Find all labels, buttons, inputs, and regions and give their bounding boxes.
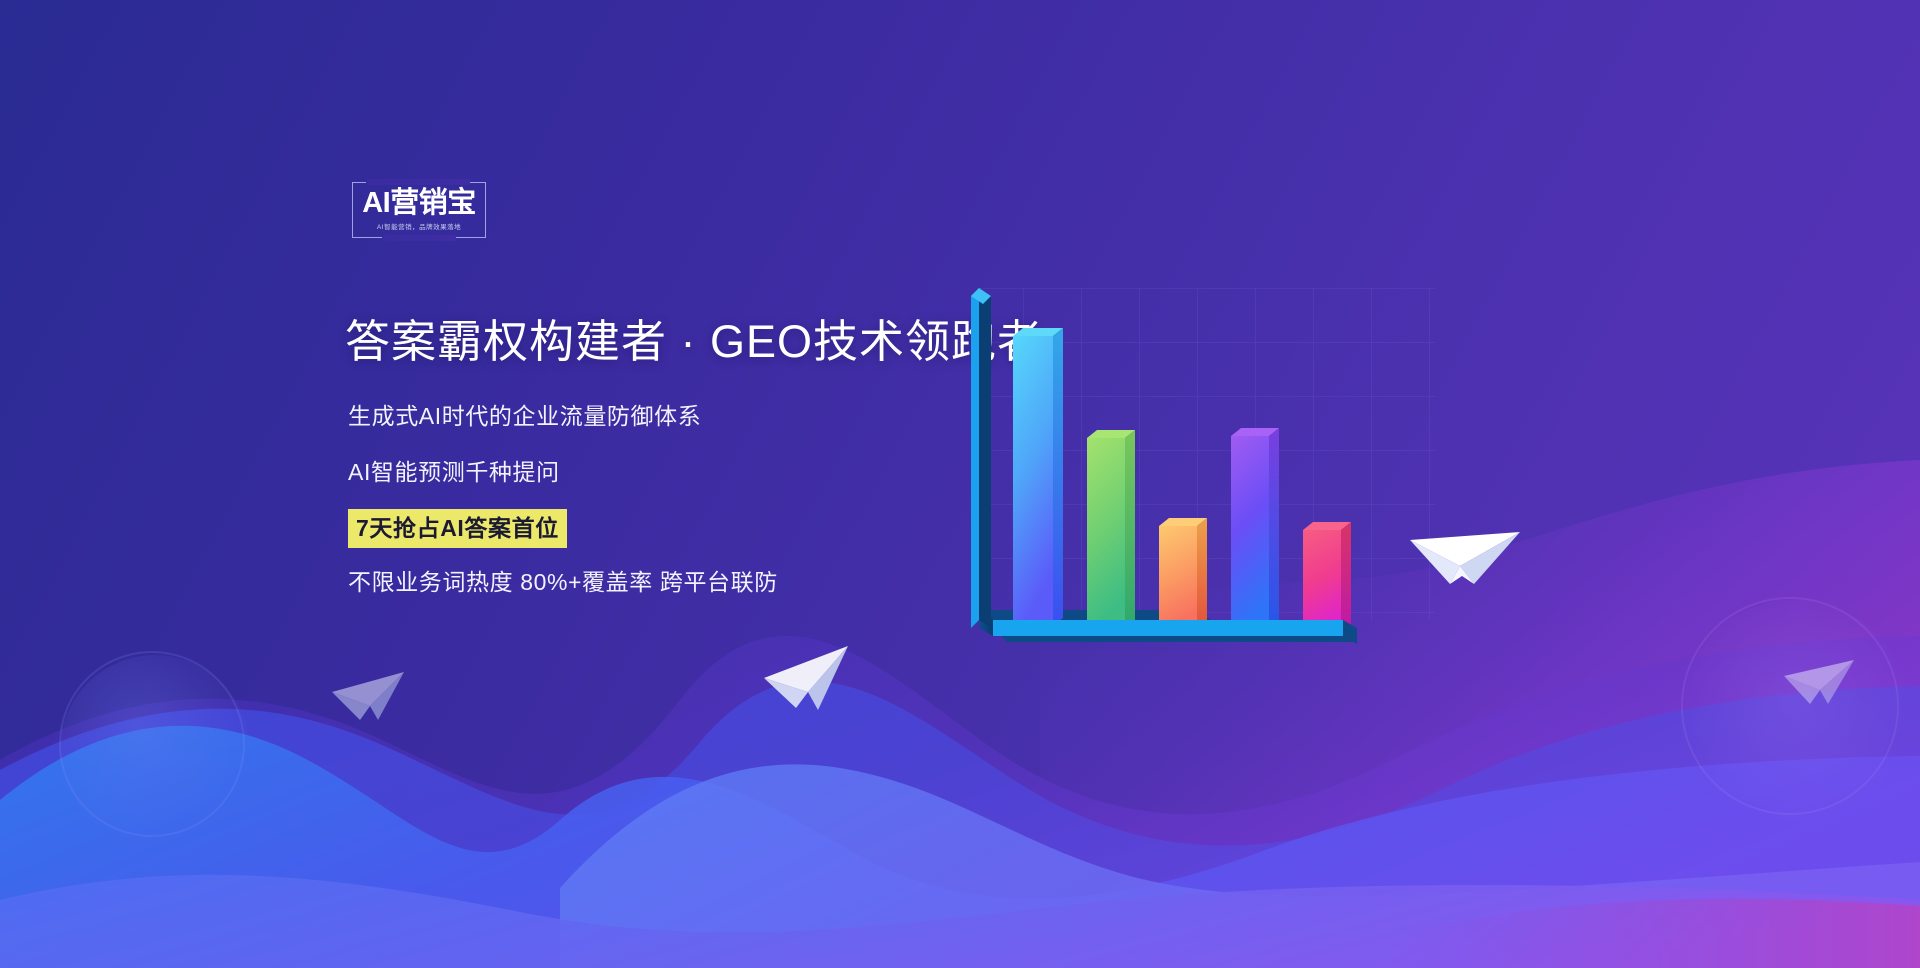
decorative-circle-right <box>1680 600 1910 830</box>
highlighted-callout-text: 7天抢占AI答案首位 <box>356 515 559 541</box>
feature-list: 不限业务词热度 80%+覆盖率 跨平台联防 <box>348 566 778 598</box>
bar-2 <box>1087 430 1135 628</box>
bar-4 <box>1231 428 1279 630</box>
chart-y-axis <box>971 288 991 628</box>
bar-5 <box>1303 522 1351 632</box>
logo-frame-gap-top <box>366 179 470 185</box>
background-waves <box>0 0 1920 968</box>
bar-3 <box>1159 518 1207 630</box>
paper-plane-icon <box>762 640 854 716</box>
paper-plane-icon <box>330 662 410 726</box>
subheadline-2: AI智能预测千种提问 <box>348 456 560 488</box>
logo-wordmark: AI营销宝 <box>352 186 486 220</box>
headline: 答案霸权构建者 · GEO技术领跑者 <box>345 313 1043 371</box>
decorative-circle-left <box>60 655 250 845</box>
chart-base-front <box>993 620 1357 644</box>
brand-logo[interactable]: AI营销宝 AI智能营销，品牌效果落地 <box>352 182 486 238</box>
subheadline-1: 生成式AI时代的企业流量防御体系 <box>348 400 701 432</box>
bar-1 <box>1013 328 1063 626</box>
logo-tagline: AI智能营销，品牌效果落地 <box>352 221 486 231</box>
paper-plane-icon <box>1782 648 1860 712</box>
marketing-banner: AI营销宝 AI智能营销，品牌效果落地 答案霸权构建者 · GEO技术领跑者 生… <box>0 0 1920 968</box>
bar-chart-illustration <box>965 288 1435 668</box>
logo-frame-gap-bottom <box>382 235 456 241</box>
highlighted-callout: 7天抢占AI答案首位 <box>348 509 567 548</box>
